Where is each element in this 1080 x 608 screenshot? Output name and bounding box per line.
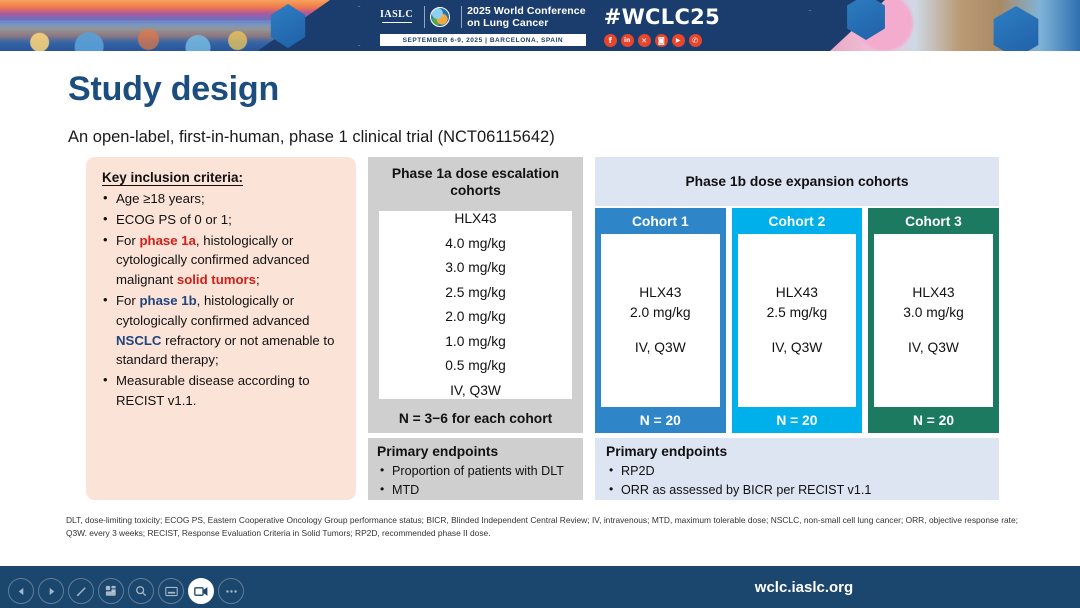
cohort-route: IV, Q3W [635, 338, 686, 358]
phase1b-endpoint-item: ORR as assessed by BICR per RECIST v1.1 [606, 481, 990, 500]
phase1b-endpoint-item: RP2D [606, 462, 990, 481]
conference-title-line1: 2025 World Conference [467, 5, 586, 17]
criteria-item: ECOG PS of 0 or 1; [102, 210, 342, 230]
notes-icon [165, 586, 178, 597]
phase1a-dose-panel: HLX434.0 mg/kg3.0 mg/kg2.5 mg/kg2.0 mg/k… [368, 206, 583, 404]
iaslc-logo: IASLC [380, 10, 419, 24]
criteria-text: ; [256, 272, 260, 287]
slide-root: IASLC 2025 World Conference on Lung Canc… [0, 0, 1080, 608]
phase1a-header: Phase 1a dose escalation cohorts [368, 157, 583, 206]
cohort-body: HLX432.0 mg/kgIV, Q3W [595, 234, 726, 407]
phase1a-dose-item: 3.0 mg/kg [445, 257, 506, 280]
criteria-text: ECOG PS of 0 or 1; [116, 212, 232, 227]
iaslc-wordmark: IASLC [380, 10, 413, 20]
phase1a-dose-item: 2.0 mg/kg [445, 306, 506, 329]
iaslc-rule [382, 22, 412, 23]
phase1a-dose-item: HLX43 [454, 208, 496, 231]
instagram-icon[interactable]: ◙ [655, 34, 668, 47]
cohort-n-label: N = 20 [732, 407, 863, 433]
presenter-notes-button[interactable] [158, 578, 184, 604]
criteria-highlight-blue: phase 1b [139, 293, 196, 308]
criteria-highlight-red: phase 1a [139, 233, 195, 248]
phase1a-n-label: N = 3−6 for each cohort [368, 404, 583, 433]
cohort-route: IV, Q3W [908, 338, 959, 358]
phase1b-endpoints-title: Primary endpoints [606, 443, 990, 461]
cohort-drug: HLX43 [776, 283, 818, 303]
cohort-detail: HLX433.0 mg/kgIV, Q3W [874, 234, 993, 407]
phase1a-dose-item: 4.0 mg/kg [445, 233, 506, 256]
key-inclusion-criteria-card: Key inclusion criteria: Age ≥18 years;EC… [86, 157, 356, 500]
cohort-card-3: Cohort 3HLX433.0 mg/kgIV, Q3WN = 20 [868, 208, 999, 433]
phase1a-endpoint-item: MTD [377, 481, 574, 500]
conference-date-location: SEPTEMBER 6-9, 2025 | BARCELONA, SPAIN [380, 34, 586, 46]
cohort-card-1: Cohort 1HLX432.0 mg/kgIV, Q3WN = 20 [595, 208, 726, 433]
criteria-text: For [116, 233, 139, 248]
phase1a-endpoints-title: Primary endpoints [377, 443, 574, 461]
phase1b-header: Phase 1b dose expansion cohorts [595, 157, 999, 206]
cohort-body: HLX433.0 mg/kgIV, Q3W [868, 234, 999, 407]
criteria-highlight-red: solid tumors [177, 272, 256, 287]
phase1a-endpoint-item: Proportion of patients with DLT [377, 462, 574, 481]
phase1a-dose-item: 2.5 mg/kg [445, 282, 506, 305]
criteria-heading: Key inclusion criteria: [102, 170, 342, 185]
iaslc-logo-block: IASLC 2025 World Conference on Lung Canc… [380, 5, 586, 46]
cohort-n-label: N = 20 [868, 407, 999, 433]
phase1b-cohorts: Cohort 1HLX432.0 mg/kgIV, Q3WN = 20Cohor… [595, 208, 999, 433]
next-icon [47, 587, 56, 596]
social-links[interactable]: f in ✕ ◙ ▶ ✆ [604, 34, 702, 47]
wechat-icon[interactable]: ✆ [689, 34, 702, 47]
criteria-text: Measurable disease according to RECIST v… [116, 373, 310, 408]
cohort-drug: HLX43 [639, 283, 681, 303]
conference-hashtag: #WCLC25 [604, 5, 720, 29]
pen-annotation-button[interactable] [68, 578, 94, 604]
cohort-title: Cohort 3 [868, 208, 999, 234]
cohort-dose: 2.5 mg/kg [767, 303, 828, 323]
criteria-highlight-blue: NSCLC [116, 333, 161, 348]
cohort-card-2: Cohort 2HLX432.5 mg/kgIV, Q3WN = 20 [732, 208, 863, 433]
presentation-toolbar [8, 578, 244, 604]
criteria-item: Age ≥18 years; [102, 189, 342, 209]
presentation-bottom-bar: wclc.iaslc.org [0, 566, 1080, 608]
logo-divider [461, 6, 462, 28]
page-subtitle: An open-label, first-in-human, phase 1 c… [68, 128, 555, 147]
phase1a-dose-item: 1.0 mg/kg [445, 331, 506, 354]
phase1a-dose-list: HLX434.0 mg/kg3.0 mg/kg2.5 mg/kg2.0 mg/k… [379, 211, 572, 399]
bottom-bar-right-pill [890, 571, 1080, 604]
criteria-item: For phase 1a, histologically or cytologi… [102, 231, 342, 290]
phase1a-endpoints-list: Proportion of patients with DLTMTD [377, 462, 574, 499]
hashtag-social-block: #WCLC25 f in ✕ ◙ ▶ ✆ [604, 5, 720, 47]
phase1b-endpoints-panel: Primary endpoints RP2DORR as assessed by… [595, 438, 999, 500]
previous-slide-button[interactable] [8, 578, 34, 604]
phase1b-endpoints-list: RP2DORR as assessed by BICR per RECIST v… [606, 462, 990, 499]
criteria-item: Measurable disease according to RECIST v… [102, 371, 342, 411]
conference-banner: IASLC 2025 World Conference on Lung Canc… [0, 0, 1080, 51]
slide-overview-button[interactable] [98, 578, 124, 604]
camera-icon [194, 586, 208, 597]
record-video-button[interactable] [188, 578, 214, 604]
abbreviations-footnote: DLT, dose-limiting toxicity; ECOG PS, Ea… [66, 514, 1018, 539]
pen-icon [75, 585, 88, 598]
criteria-text: For [116, 293, 139, 308]
phase1a-dose-item: IV, Q3W [450, 380, 501, 403]
cohort-detail: HLX432.5 mg/kgIV, Q3W [738, 234, 857, 407]
linkedin-icon[interactable]: in [621, 34, 634, 47]
ellipsis-icon [225, 589, 238, 594]
cohort-n-label: N = 20 [595, 407, 726, 433]
criteria-list: Age ≥18 years;ECOG PS of 0 or 1;For phas… [102, 189, 342, 411]
cohort-dose: 3.0 mg/kg [903, 303, 964, 323]
cohort-detail: HLX432.0 mg/kgIV, Q3W [601, 234, 720, 407]
youtube-icon[interactable]: ▶ [672, 34, 685, 47]
cohort-body: HLX432.5 mg/kgIV, Q3W [732, 234, 863, 407]
banner-center-lockup: IASLC 2025 World Conference on Lung Canc… [380, 0, 720, 51]
criteria-item: For phase 1b, histologically or cytologi… [102, 291, 342, 370]
prev-icon [17, 587, 26, 596]
globe-icon [430, 7, 450, 27]
logo-divider [424, 6, 425, 28]
cohort-route: IV, Q3W [771, 338, 822, 358]
search-button[interactable] [128, 578, 154, 604]
x-twitter-icon[interactable]: ✕ [638, 34, 651, 47]
page-title: Study design [68, 70, 279, 109]
hexagon-outline-decoration [340, 6, 378, 46]
cohort-drug: HLX43 [912, 283, 954, 303]
phase1a-dose-item: 0.5 mg/kg [445, 355, 506, 378]
conference-title-line2: on Lung Cancer [467, 17, 586, 29]
grid-icon [105, 585, 117, 597]
criteria-text: Age ≥18 years; [116, 191, 205, 206]
cohort-title: Cohort 1 [595, 208, 726, 234]
facebook-icon[interactable]: f [604, 34, 617, 47]
more-options-button[interactable] [218, 578, 244, 604]
search-icon [135, 585, 147, 597]
conference-website-url[interactable]: wclc.iaslc.org [724, 579, 884, 596]
cohort-title: Cohort 2 [732, 208, 863, 234]
next-slide-button[interactable] [38, 578, 64, 604]
phase1a-endpoints-panel: Primary endpoints Proportion of patients… [368, 438, 583, 500]
cohort-dose: 2.0 mg/kg [630, 303, 691, 323]
hexagon-outline-decoration [790, 10, 830, 51]
